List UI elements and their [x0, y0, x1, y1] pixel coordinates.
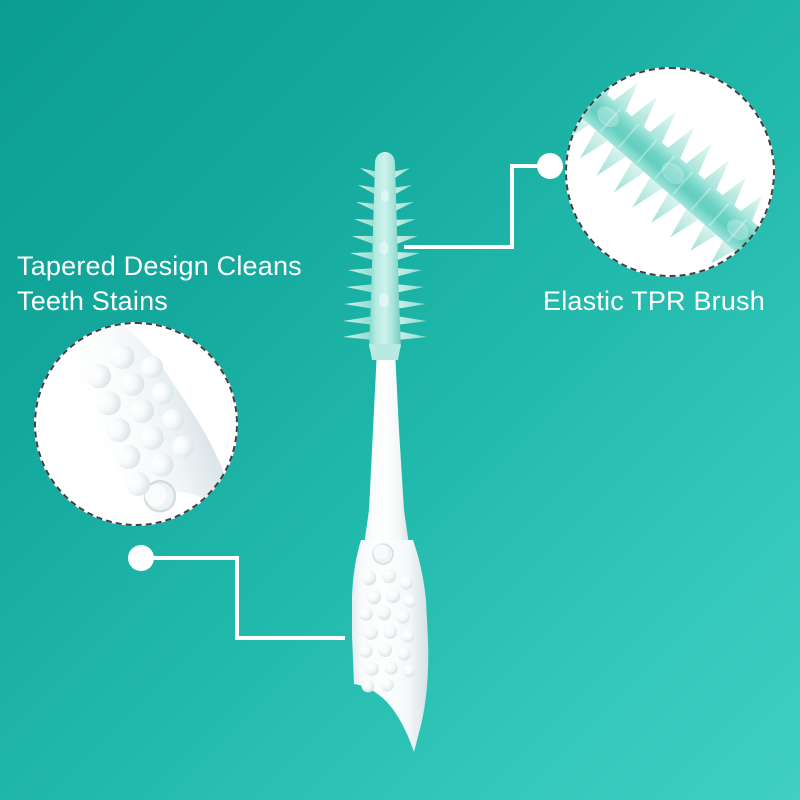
connector-line-tapered-vertical	[235, 556, 239, 640]
product-handle	[352, 350, 428, 752]
connector-dot-icon-tapered	[128, 545, 154, 571]
connector-line-tapered-top	[152, 556, 239, 560]
product-infographic: Tapered Design Cleans Teeth Stains Elast…	[0, 0, 800, 800]
magnifier-circle-elastic-tpr-brush	[565, 67, 775, 277]
magnifier-circle-tapered-design	[34, 322, 238, 526]
magnified-handle-tip	[34, 322, 238, 526]
connector-line-tapered-bottom	[235, 636, 345, 640]
callout-label-tapered-design: Tapered Design Cleans Teeth Stains	[17, 249, 317, 318]
product-brush-head	[343, 152, 427, 360]
connector-dot-icon-tpr	[537, 153, 563, 179]
callout-label-elastic-tpr-brush: Elastic TPR Brush	[508, 284, 800, 319]
magnified-bristle-head	[565, 67, 775, 277]
connector-line-tpr-vertical	[510, 164, 514, 249]
connector-line-tpr-horizontal	[404, 245, 514, 249]
